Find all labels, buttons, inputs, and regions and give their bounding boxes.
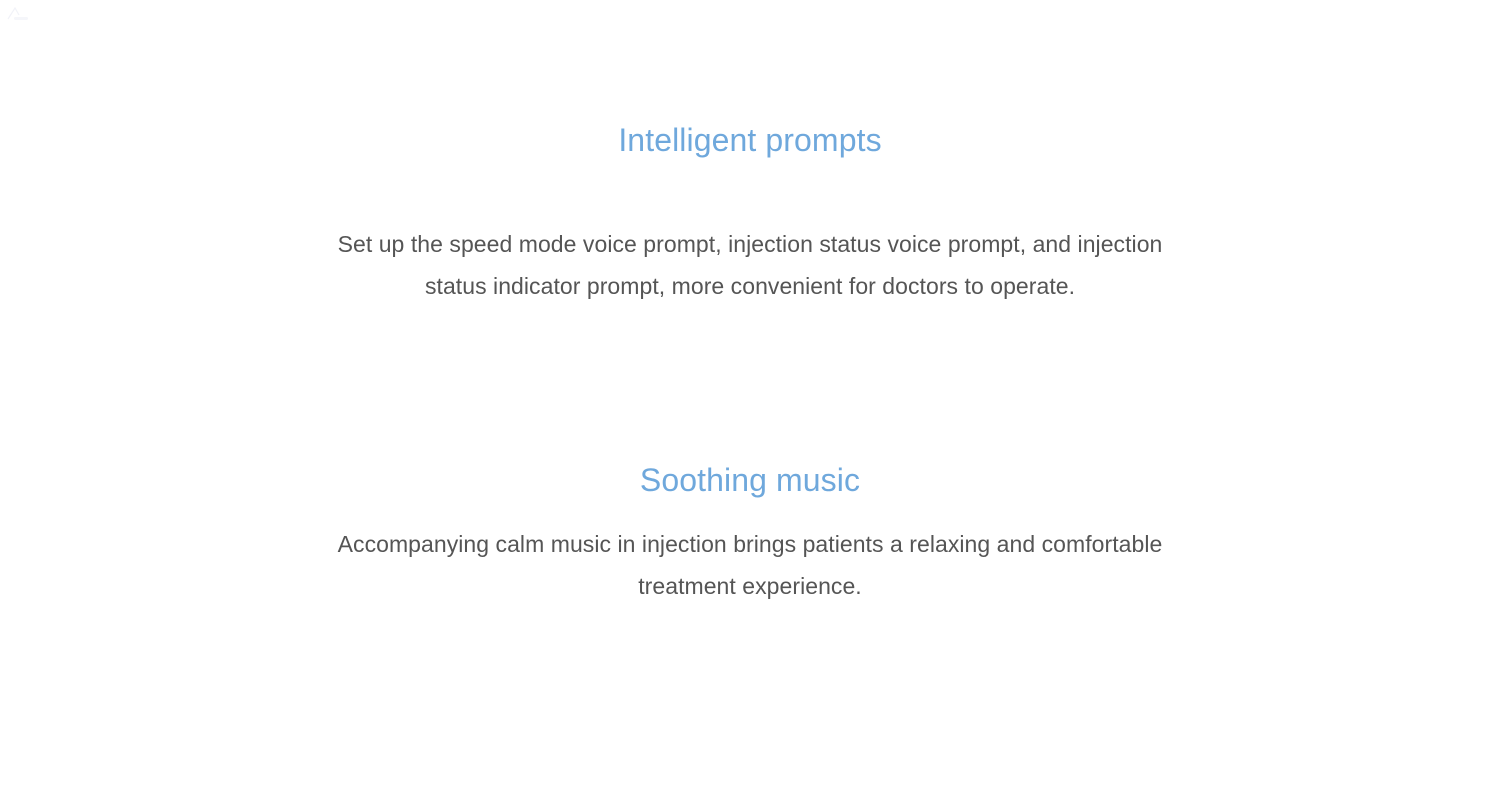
feature-section-soothing-music: Soothing music Accompanying calm music i…: [0, 458, 1500, 607]
feature-heading-intelligent-prompts: Intelligent prompts: [0, 118, 1500, 162]
feature-body-soothing-music: Accompanying calm music in injection bri…: [320, 524, 1180, 607]
page-root: Intelligent prompts Set up the speed mod…: [0, 0, 1500, 793]
feature-section-intelligent-prompts: Intelligent prompts Set up the speed mod…: [0, 118, 1500, 307]
feature-body-intelligent-prompts: Set up the speed mode voice prompt, inje…: [305, 224, 1195, 307]
feature-sections-container: Intelligent prompts Set up the speed mod…: [0, 0, 1500, 793]
feature-heading-soothing-music: Soothing music: [0, 458, 1500, 502]
